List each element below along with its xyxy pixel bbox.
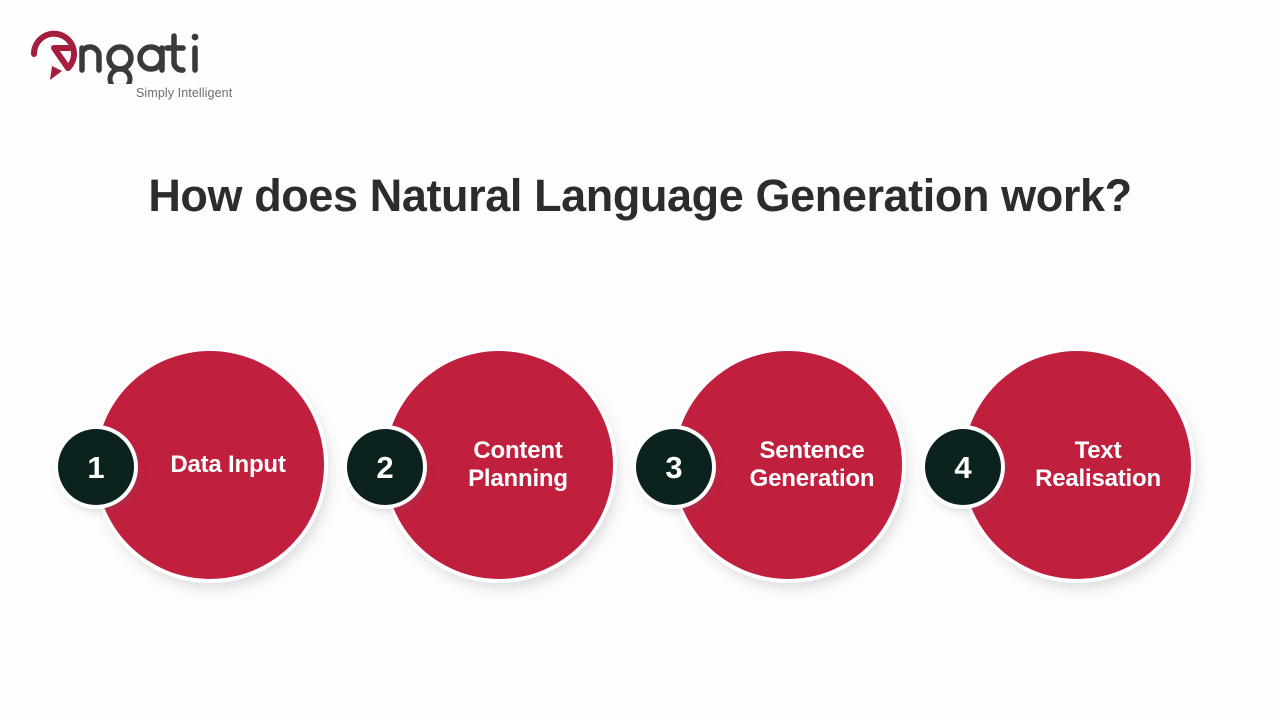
step-badge-2[interactable]: 2 [347,429,423,505]
step-label-2: Content Planning [468,437,568,494]
step-number-1: 1 [87,452,104,483]
process-step-4[interactable]: Text Realisation 4 [925,351,1191,579]
step-label-3: Sentence Generation [712,437,912,494]
step-number-2: 2 [376,452,393,483]
step-number-3: 3 [665,452,682,483]
step-badge-4[interactable]: 4 [925,429,1001,505]
process-step-2[interactable]: Content Planning 2 [347,351,613,579]
step-number-4: 4 [954,452,971,483]
step-badge-1[interactable]: 1 [58,429,134,505]
step-badge-3[interactable]: 3 [636,429,712,505]
step-label-4: Text Realisation [1035,437,1161,494]
process-step-3[interactable]: Sentence Generation 3 [636,351,902,579]
process-steps: Data Input 1 Content Planning 2 Sentence… [0,0,1280,720]
process-step-1[interactable]: Data Input 1 [58,351,324,579]
step-label-1: Data Input [170,451,285,479]
